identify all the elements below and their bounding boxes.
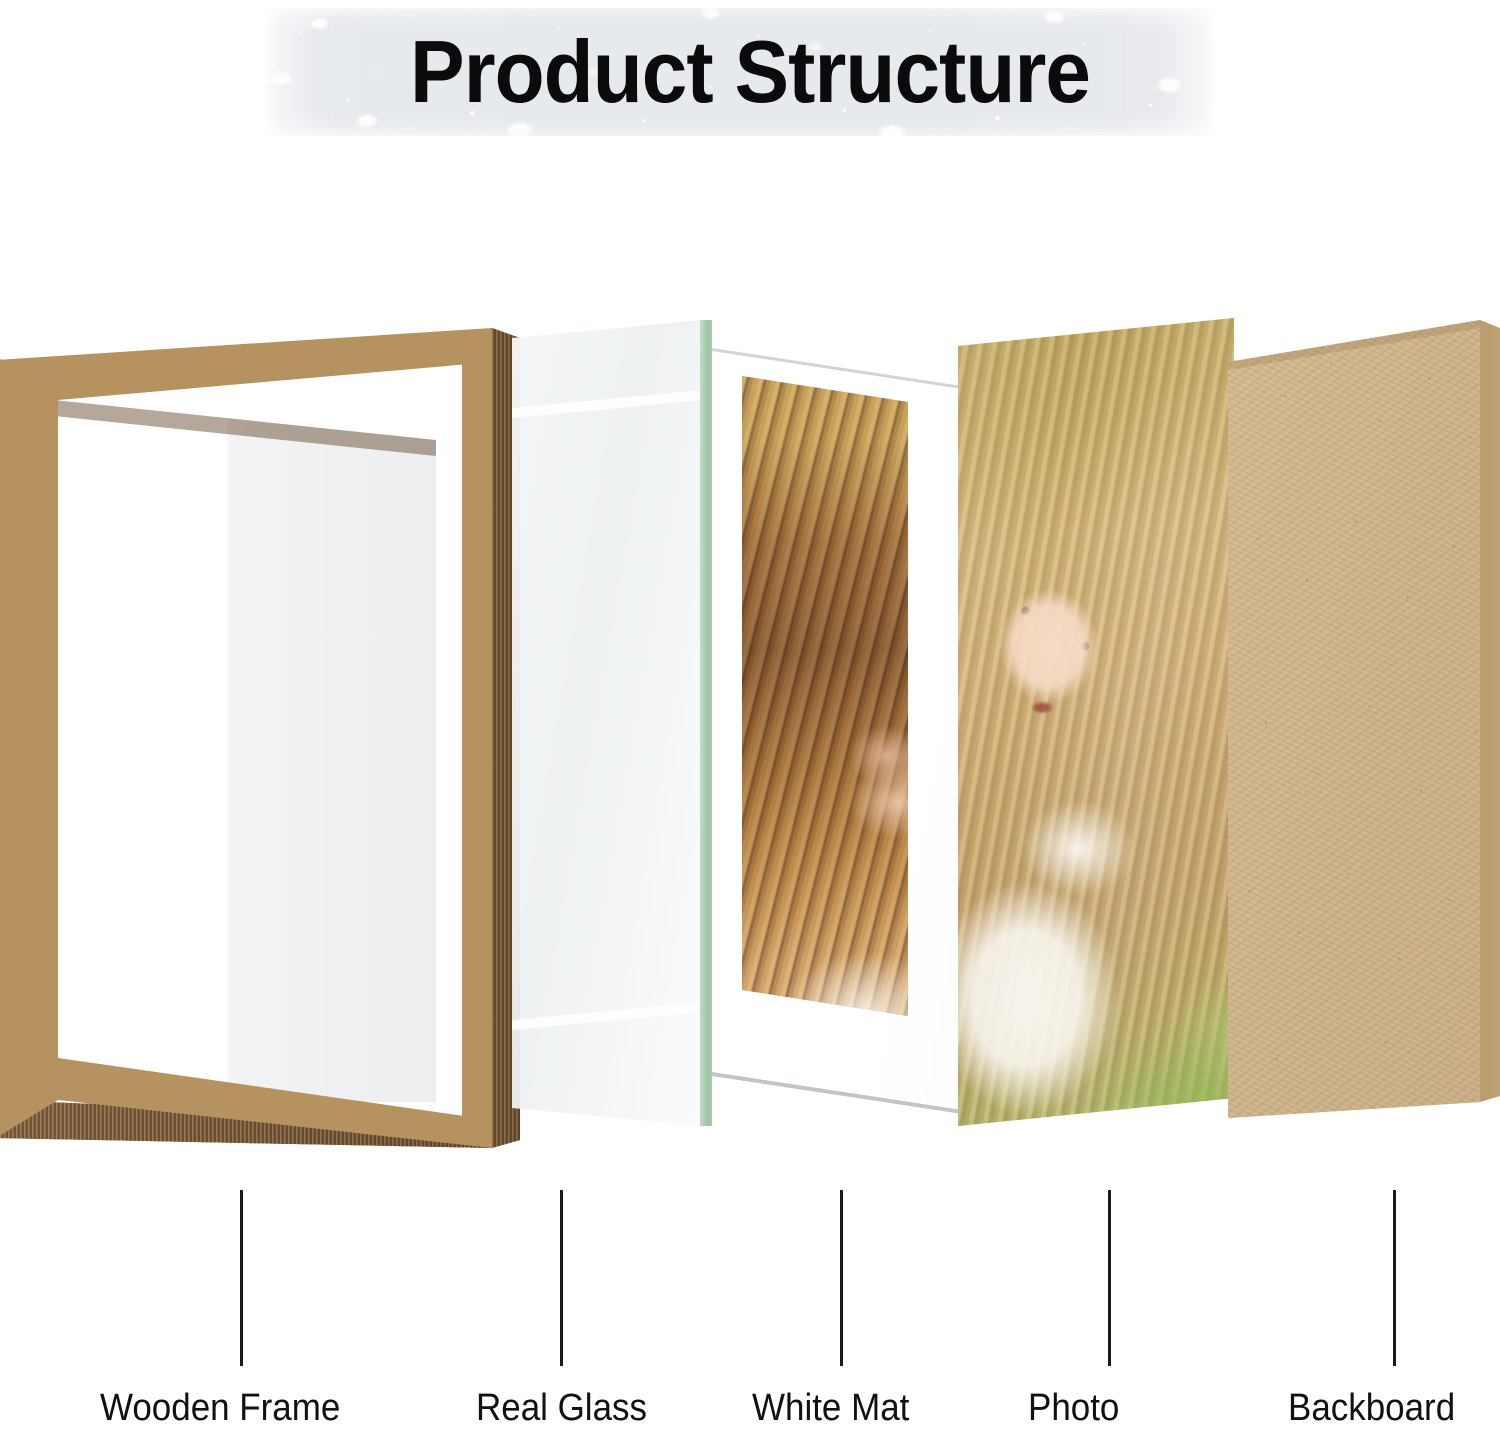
leader-line-real-glass bbox=[560, 1190, 563, 1366]
photo-sheen bbox=[958, 318, 1248, 1163]
page-title: Product Structure bbox=[53, 0, 1448, 150]
leader-line-photo bbox=[1108, 1190, 1111, 1366]
layer-real-glass bbox=[512, 320, 717, 1160]
layer-labels: Wooden Frame Real Glass White Mat Photo … bbox=[0, 1378, 1500, 1446]
layer-backboard bbox=[1228, 320, 1500, 1160]
leader-line-backboard bbox=[1393, 1190, 1396, 1366]
frame-aperture bbox=[54, 400, 436, 1102]
layer-photo bbox=[958, 318, 1248, 1163]
label-wooden-frame: Wooden Frame bbox=[100, 1378, 340, 1438]
label-backboard: Backboard bbox=[1288, 1378, 1455, 1438]
backboard-face bbox=[1228, 320, 1500, 1160]
exploded-view-diagram bbox=[0, 150, 1500, 1210]
label-white-mat: White Mat bbox=[752, 1378, 909, 1438]
label-photo: Photo bbox=[1028, 1378, 1119, 1438]
label-real-glass: Real Glass bbox=[476, 1378, 647, 1438]
layer-wooden-frame bbox=[0, 328, 520, 1158]
leader-line-white-mat bbox=[840, 1190, 843, 1366]
leader-lines bbox=[0, 1190, 1500, 1370]
layer-white-mat bbox=[712, 348, 970, 1153]
title-banner: Product Structure bbox=[0, 0, 1500, 150]
leader-line-wooden-frame bbox=[240, 1190, 243, 1366]
glass-pane bbox=[512, 320, 717, 1160]
